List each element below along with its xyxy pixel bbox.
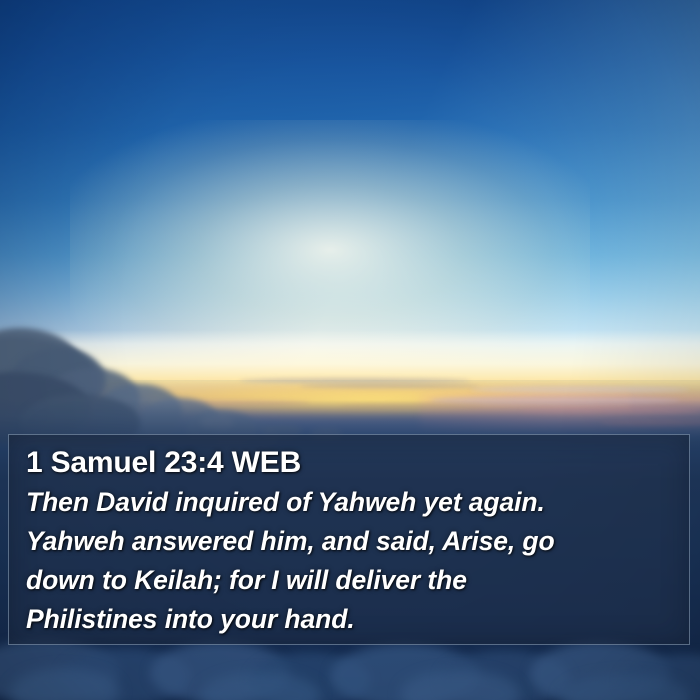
verse-text-line: Philistines into your hand. [26,600,689,639]
cirrus-streak [470,386,690,393]
verse-text-line: down to Keilah; for I will deliver the [26,561,689,600]
cirrus-streak [300,384,480,388]
verse-image-canvas: 1 Samuel 23:4 WEB Then David inquired of… [0,0,700,700]
verse-text-line: Yahweh answered him, and said, Arise, go [26,522,689,561]
cirrus-streak [240,378,470,383]
verse-text-line: Then David inquired of Yahweh yet again. [26,483,689,522]
verse-reference: 1 Samuel 23:4 WEB [26,444,689,482]
verse-overlay-panel: 1 Samuel 23:4 WEB Then David inquired of… [8,434,690,645]
verse-text: Then David inquired of Yahweh yet again.… [26,483,689,639]
